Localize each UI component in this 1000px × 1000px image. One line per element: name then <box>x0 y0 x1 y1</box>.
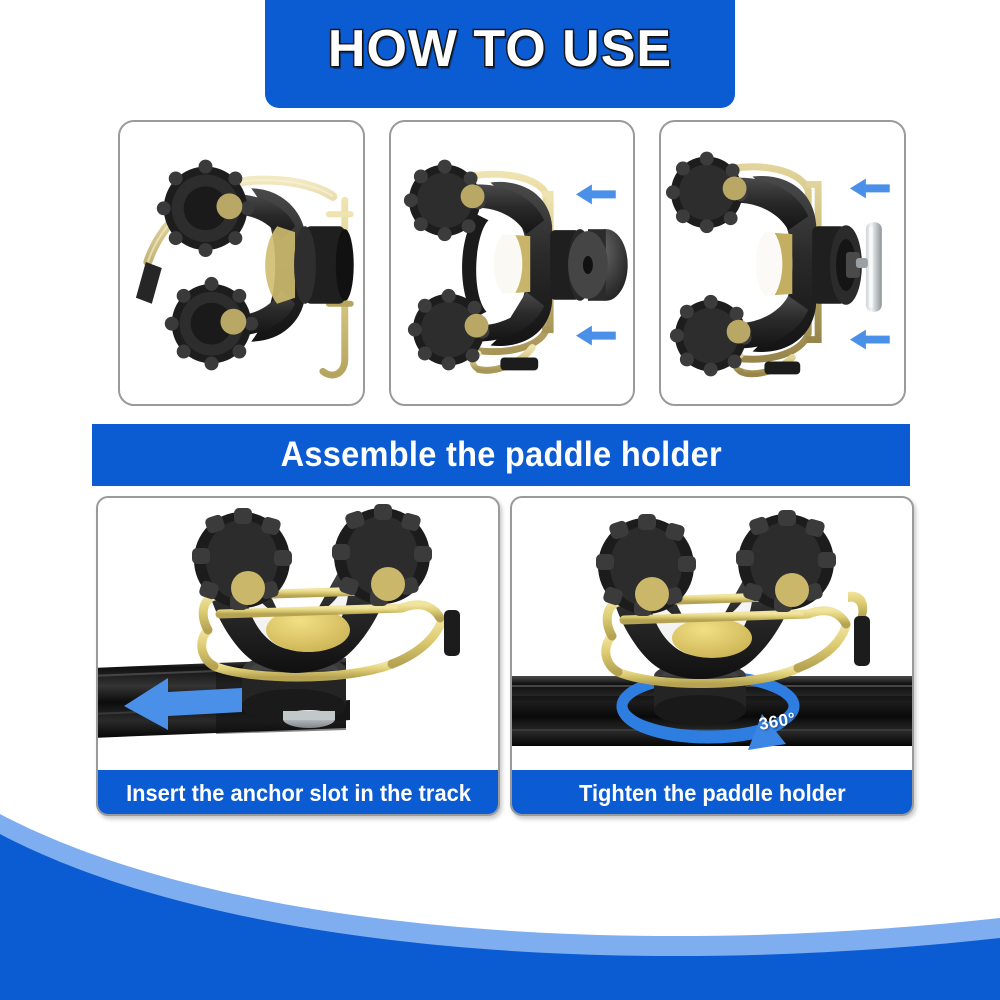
section-banner-label: Assemble the paddle holder <box>280 435 721 475</box>
step-card-tighten-holder: 360° Tighten the paddle holder <box>510 496 914 816</box>
section-banner: Assemble the paddle holder <box>92 424 910 486</box>
roller-upper <box>157 160 254 257</box>
roller-lower <box>670 295 752 377</box>
pivot-bolt-left <box>231 571 265 605</box>
roller-right <box>736 510 836 612</box>
roller-right <box>332 504 432 606</box>
bottom-wave-decoration <box>0 800 1000 1000</box>
gold-hook <box>848 592 867 616</box>
top-step-row <box>118 120 906 406</box>
cord-end-cap <box>136 262 162 304</box>
step-card-insert-anchor: Insert the anchor slot in the track <box>96 496 500 816</box>
header-banner: HOW TO USE <box>265 0 735 108</box>
lever-handle <box>500 357 538 370</box>
step-1-illustration <box>120 122 363 404</box>
insert-anchor-scene <box>98 498 498 772</box>
rubber-puck <box>568 229 628 301</box>
pivot-bolt <box>460 184 484 208</box>
infographic-page: HOW TO USE <box>0 0 1000 1000</box>
bungee-cord-lower <box>220 608 402 614</box>
step-card-1 <box>118 120 365 406</box>
track-anchor-plate <box>856 222 882 312</box>
gold-cradle-pad <box>265 226 295 304</box>
roller-upper <box>666 152 748 234</box>
pivot-bolt <box>723 176 747 200</box>
anchor-plate <box>283 710 335 728</box>
roller-left <box>596 514 696 616</box>
step-card-2 <box>389 120 636 406</box>
insert-anchor-illustration <box>98 498 498 772</box>
roller-lower <box>165 277 258 370</box>
arrow-left-top <box>850 178 890 198</box>
pivot-bolt-right <box>371 567 405 601</box>
lever-handle <box>854 616 870 666</box>
arrow-left-bottom <box>850 330 890 350</box>
step-3-illustration <box>661 122 904 404</box>
pivot-bolt-right <box>775 573 809 607</box>
pivot-bolt <box>216 193 242 219</box>
bottom-step-row: Insert the anchor slot in the track <box>96 496 914 816</box>
wave-main-layer <box>0 834 1000 1000</box>
step-2-illustration <box>391 122 634 404</box>
arrow-left-top <box>576 184 616 204</box>
tighten-holder-illustration: 360° <box>512 498 912 772</box>
roller-left <box>192 508 292 610</box>
mount-hub <box>294 226 354 304</box>
page-title: HOW TO USE <box>328 19 672 79</box>
bungee-cord-lower <box>624 614 808 620</box>
lever-handle <box>765 361 801 374</box>
mount-hub <box>813 225 863 305</box>
gold-cradle-pad <box>672 618 752 658</box>
roller-upper <box>404 160 486 242</box>
pivot-bolt-left <box>635 577 669 611</box>
lever-handle <box>444 610 460 656</box>
tighten-holder-scene: 360° <box>512 498 912 772</box>
step-card-3 <box>659 120 906 406</box>
arrow-left-bottom <box>576 326 616 346</box>
